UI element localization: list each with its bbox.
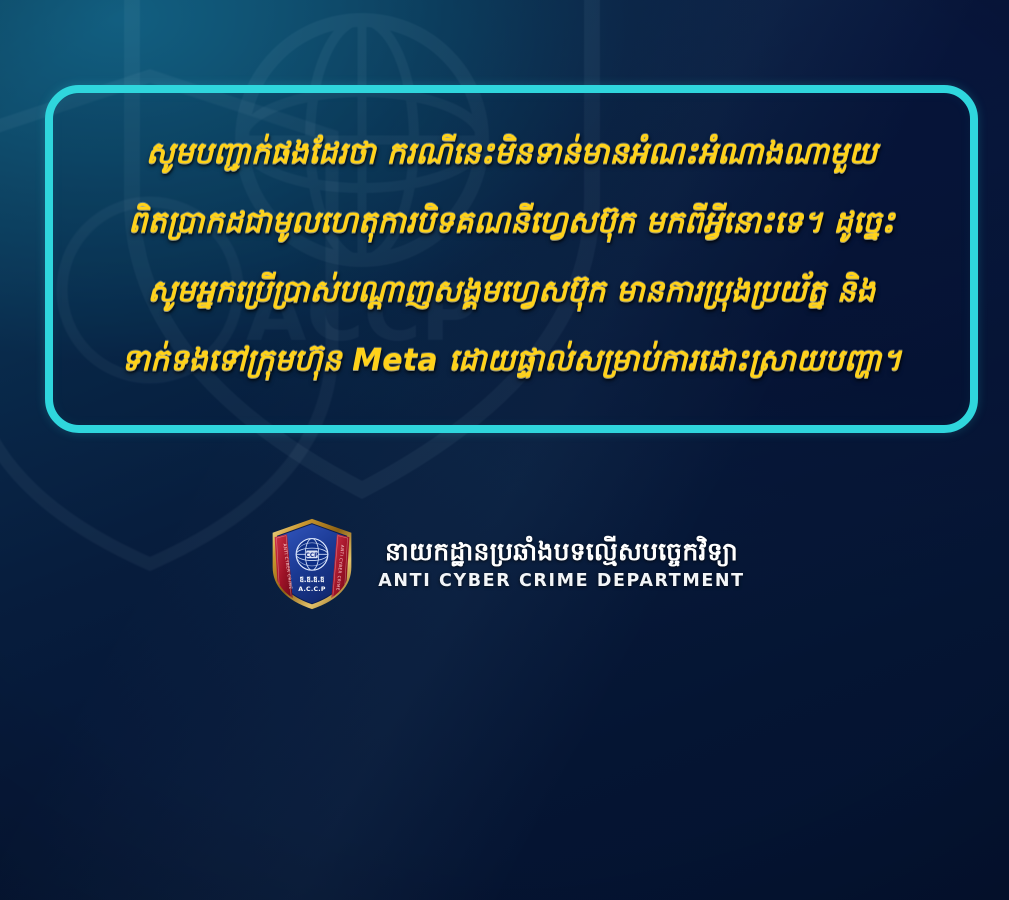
department-name-english: ANTI CYBER CRIME DEPARTMENT [378,570,744,592]
announcement-line-2: ពិតប្រាកដជាមូលហេតុការបិទគណនីហ្វេសប៊ុក មក… [69,188,954,257]
poster-canvas: ACCP សូមបញ្ជាក់ផងដែរថា ករណីនេះមិនទាន់មាន… [0,0,1009,900]
announcement-line-4: ទាក់ទងទៅក្រុមហ៊ុន Meta ដោយផ្ទាល់សម្រាប់ក… [69,326,954,395]
announcement-box: សូមបញ្ជាក់ផងដែរថា ករណីនេះមិនទាន់មានអំណះអ… [45,85,978,433]
footer-text-block: នាយកដ្ឋានប្រឆាំងបទល្មើសបច្ចេកវិទ្យា ANTI… [378,535,744,592]
anti-cyber-crime-badge-icon: ANTI CYBER CRIME ANTI CYBER CRIME CCP ឨ.… [264,515,360,611]
department-name-khmer: នាយកដ្ឋានប្រឆាំងបទល្មើសបច្ចេកវិទ្យា [385,535,738,569]
announcement-line-3: សូមអ្នកប្រើប្រាស់បណ្តាញសង្គមហ្វេសប៊ុក មា… [69,257,954,326]
announcement-line-1: សូមបញ្ជាក់ផងដែរថា ករណីនេះមិនទាន់មានអំណះអ… [69,119,954,188]
footer-branding: ANTI CYBER CRIME ANTI CYBER CRIME CCP ឨ.… [0,515,1009,611]
badge-abbrev-en: A.C.C.P [299,586,327,593]
badge-abbrev-kh: ឨ.ឨ.ឨ.ឨ [300,576,325,584]
svg-text:CCP: CCP [306,553,319,559]
